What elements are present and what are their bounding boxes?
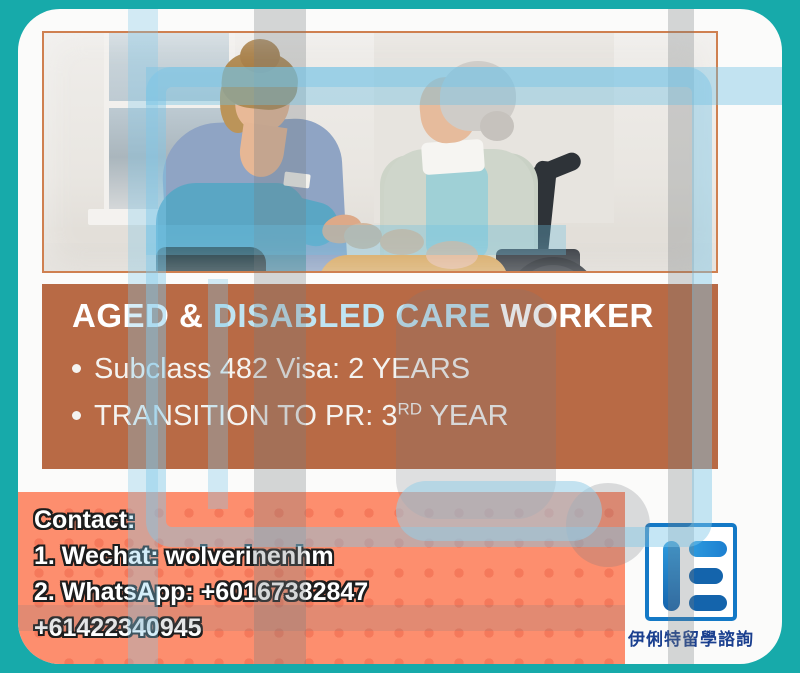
contact-band: Contact: 1. Wechat: wolverinenhm 2. What… [18, 492, 625, 664]
contact-title: Contact: [34, 502, 368, 538]
poster-root: AGED & DISABLED CARE WORKER Subclass 482… [0, 0, 800, 673]
headline-part-2: DISABLED CARE [213, 297, 501, 334]
bullet-suffix: YEAR [422, 400, 509, 432]
bullet-superscript: RD [397, 399, 422, 418]
photo-vignette [44, 33, 716, 271]
logo-middle-bar [689, 568, 723, 584]
contact-whatsapp[interactable]: 2. WhatsApp: +60167382847 [34, 574, 368, 610]
logo-vertical-bar [663, 541, 680, 611]
care-photo [44, 33, 716, 271]
contact-text-block: Contact: 1. Wechat: wolverinenhm 2. What… [34, 502, 368, 646]
page-title: AGED & DISABLED CARE WORKER [42, 298, 718, 334]
brand-logo[interactable]: 伊俐特留學諮詢 [618, 523, 764, 650]
contact-wechat[interactable]: 1. Wechat: wolverinenhm [34, 538, 368, 574]
contact-phone[interactable]: +61422340945 [34, 610, 368, 646]
headline-band: AGED & DISABLED CARE WORKER Subclass 482… [42, 284, 718, 469]
list-item: TRANSITION TO PR: 3RD YEAR [94, 393, 718, 439]
logo-caption: 伊俐特留學諮詢 [618, 625, 764, 650]
list-item: Subclass 482 Visa: 2 YEARS [94, 346, 718, 392]
headline-part-1: AGED & [72, 297, 213, 334]
benefit-list: Subclass 482 Visa: 2 YEARS TRANSITION TO… [42, 346, 718, 439]
logo-mark-icon [645, 523, 737, 621]
bullet-prefix: TRANSITION TO PR: 3 [94, 400, 397, 432]
photo-frame [42, 31, 718, 273]
logo-bottom-bar [689, 595, 727, 611]
logo-top-bar [689, 541, 727, 557]
poster-card: AGED & DISABLED CARE WORKER Subclass 482… [18, 9, 782, 664]
headline-part-3: WORKER [501, 297, 654, 334]
